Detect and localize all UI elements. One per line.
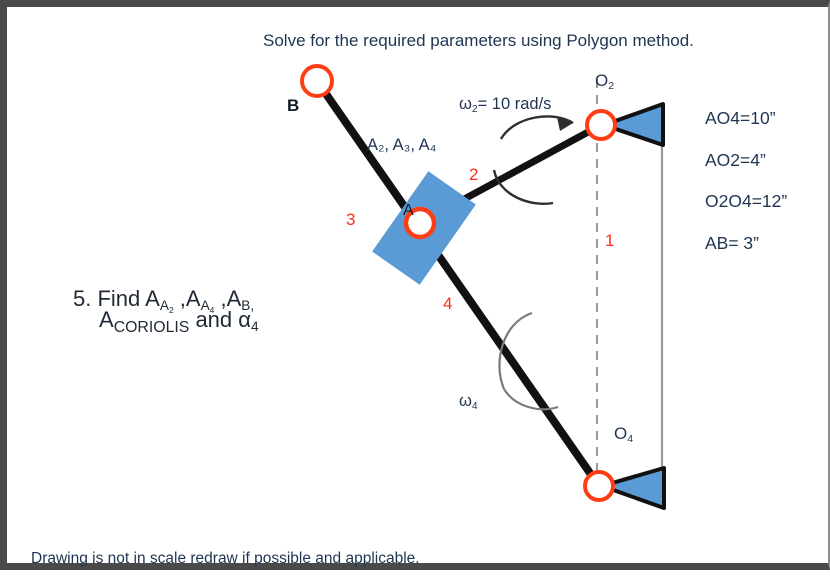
omega4-subscript: 4 [472, 401, 478, 412]
footer-note: Drawing is not in scale redraw if possib… [31, 551, 420, 567]
point-label-o2: O2 [595, 72, 614, 89]
link-number-4: 4 [443, 295, 452, 312]
omega2-value: = 10 rad/s [478, 95, 552, 113]
link-number-3: 3 [346, 211, 355, 228]
omega4-symbol: ω [459, 392, 472, 410]
parameter-o2o4: O2O4=12” [705, 193, 787, 211]
worksheet-page: Solve for the required parameters using … [0, 0, 830, 570]
parameter-ao4: AO4=10” [705, 110, 776, 128]
omega2-symbol: ω [459, 95, 472, 113]
question-number: 5. [73, 286, 91, 311]
o4-letter: O [614, 424, 627, 443]
sub-a2-letter: A [160, 298, 169, 313]
parameter-ao2: AO2=4” [705, 152, 766, 170]
page-title: Solve for the required parameters using … [263, 32, 694, 49]
acceleration-set-label: A₂, A₃, A₄ [367, 137, 436, 154]
question-sub-a4: A4 [201, 298, 215, 313]
pivot-o4 [585, 472, 613, 500]
omega2-subscript: 2 [472, 104, 478, 115]
link-number-2: 2 [469, 166, 478, 183]
question-line2: ACORIOLIS and α4 [99, 308, 259, 332]
coriolis-subscript: CORIOLIS [114, 319, 190, 336]
point-label-o4: O4 [614, 425, 633, 442]
alpha-subscript: 4 [251, 319, 259, 334]
link4-bar [317, 81, 599, 486]
sub-a4-number: 4 [210, 305, 215, 315]
question-sub-a2: A2 [160, 298, 174, 313]
question-statement: 5. Find AA2 ,AA4 ,AB, ACORIOLIS and α4 [73, 287, 259, 332]
link-number-1: 1 [605, 232, 614, 249]
pivot-o2 [587, 111, 615, 139]
omega4-label: ω4 [459, 393, 478, 410]
o2-letter: O [595, 71, 608, 90]
parameter-ab: AB= 3” [705, 235, 759, 253]
coriolis-letter: A [99, 307, 114, 332]
omega2-label: ω2= 10 rad/s [459, 96, 551, 113]
o4-subscript: 4 [627, 433, 633, 445]
o2-subscript: 2 [608, 80, 614, 92]
point-label-b: B [287, 97, 299, 114]
question-sub-b: B, [241, 298, 254, 313]
pivot-b [302, 66, 332, 96]
sub-a4-letter: A [201, 298, 210, 313]
point-label-a: A [403, 203, 414, 219]
sub-a2-number: 2 [169, 305, 174, 315]
